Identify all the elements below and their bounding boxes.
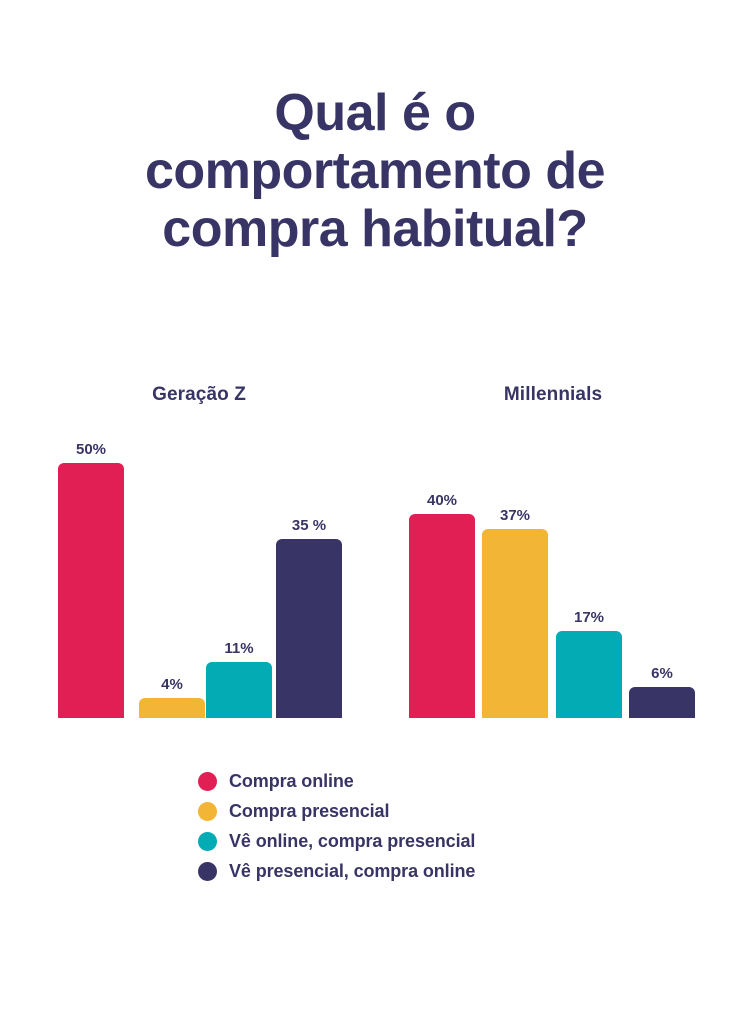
legend-item: Vê online, compra presencial	[198, 830, 475, 852]
bar-value-label: 35 %	[292, 517, 326, 534]
legend-color-swatch-icon	[198, 832, 217, 851]
bar	[556, 631, 622, 718]
infographic-root: Qual é o comportamento de compra habitua…	[0, 0, 750, 1024]
bar-value-label: 40%	[427, 492, 457, 509]
legend-item-label: Compra online	[229, 771, 354, 792]
bar	[629, 687, 695, 718]
bar-value-label: 6%	[651, 665, 673, 682]
legend-color-swatch-icon	[198, 802, 217, 821]
bar	[58, 463, 124, 718]
legend-item: Compra online	[198, 770, 475, 792]
legend-item-label: Compra presencial	[229, 801, 389, 822]
legend-color-swatch-icon	[198, 772, 217, 791]
legend-item: Vê presencial, compra online	[198, 860, 475, 882]
bar	[409, 514, 475, 718]
bar	[206, 662, 272, 718]
bars-container: 50%4%11%35 %40%37%17%6%	[0, 0, 750, 718]
bar	[482, 529, 548, 718]
legend-item-label: Vê presencial, compra online	[229, 861, 475, 882]
bar	[139, 698, 205, 718]
bar-value-label: 17%	[574, 609, 604, 626]
legend-item-label: Vê online, compra presencial	[229, 831, 475, 852]
bar-value-label: 4%	[161, 676, 183, 693]
chart-legend: Compra onlineCompra presencialVê online,…	[198, 770, 475, 882]
legend-item: Compra presencial	[198, 800, 475, 822]
legend-color-swatch-icon	[198, 862, 217, 881]
bar-value-label: 50%	[76, 441, 106, 458]
bar	[276, 539, 342, 718]
bar-value-label: 37%	[500, 507, 530, 524]
bar-value-label: 11%	[224, 640, 253, 657]
